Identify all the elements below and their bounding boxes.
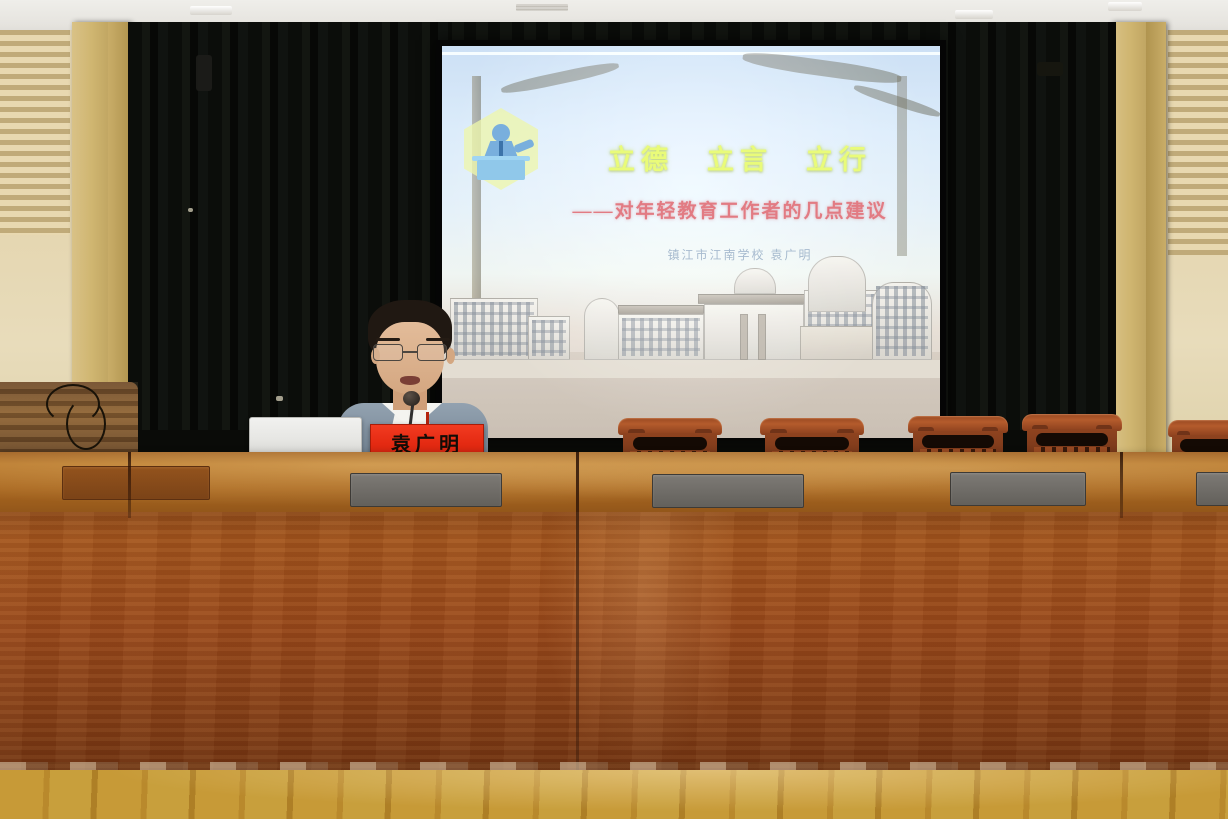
- stage-floor: [0, 770, 1228, 819]
- podium-speaker-icon: [464, 108, 538, 190]
- campus-column: [758, 314, 766, 360]
- campus-building-gable: [808, 256, 866, 312]
- desk-panel[interactable]: [652, 474, 804, 508]
- microphone-head[interactable]: [403, 391, 420, 406]
- stage-curtain-right: [926, 22, 1116, 452]
- wall-speaker-left: [196, 55, 212, 91]
- desk-seam: [128, 452, 131, 518]
- campus-building: [528, 316, 570, 360]
- slide-subtitle: ——对年轻教育工作者的几点建议: [520, 196, 940, 223]
- curtain-marking: [188, 208, 193, 212]
- figure-tie-icon: [499, 141, 503, 157]
- campus-roof: [618, 305, 704, 314]
- acoustic-slats-right: [1168, 30, 1228, 255]
- campus-plaza: [442, 360, 940, 378]
- desk-panel[interactable]: [350, 473, 502, 507]
- slide-author-line: 镇江市江南学校 袁广明: [560, 246, 920, 263]
- desk-seam: [576, 452, 579, 772]
- ceiling-light: [955, 10, 993, 19]
- slide-title: 立德 立言 立行: [560, 138, 920, 177]
- tree-branch: [500, 60, 620, 97]
- ceiling-light: [190, 6, 232, 15]
- desk-panel-recess: [62, 466, 210, 500]
- desk-panel[interactable]: [950, 472, 1086, 506]
- campus-building-gable: [872, 282, 932, 360]
- eyebrow-left: [376, 338, 400, 341]
- campus-building: [618, 314, 704, 360]
- mouth: [400, 376, 420, 385]
- projection-screen[interactable]: 立德 立言 立行 ——对年轻教育工作者的几点建议 镇江市江南学校 袁广明: [442, 46, 940, 438]
- podium-base-icon: [477, 160, 525, 180]
- ceiling-vent: [516, 4, 568, 11]
- campus-roof: [698, 294, 810, 304]
- screen-top-edge: [442, 52, 940, 55]
- campus-cupola: [734, 268, 776, 294]
- figure-head-icon: [492, 124, 510, 142]
- desk-panel[interactable]: [1196, 472, 1228, 506]
- campus-column: [740, 314, 748, 360]
- campus-building-gable: [584, 298, 620, 360]
- curtain-marking: [276, 396, 283, 401]
- ceiling-light: [1108, 2, 1142, 11]
- glasses-icon: [371, 344, 449, 361]
- wall-speaker-right: [1037, 62, 1063, 76]
- campus-main-hall: [704, 304, 804, 360]
- acoustic-slats-left: [0, 30, 70, 235]
- pillar-right-face: [1146, 22, 1166, 477]
- presidium-desk-front: [0, 512, 1228, 772]
- cable-loop: [66, 398, 106, 450]
- auditorium-scene: 立德 立言 立行 ——对年轻教育工作者的几点建议 镇江市江南学校 袁广明: [0, 0, 1228, 819]
- eyebrow-right: [426, 338, 450, 341]
- desk-seam: [1120, 452, 1123, 518]
- wood-grain: [0, 512, 1228, 772]
- campus-photo: [442, 248, 940, 438]
